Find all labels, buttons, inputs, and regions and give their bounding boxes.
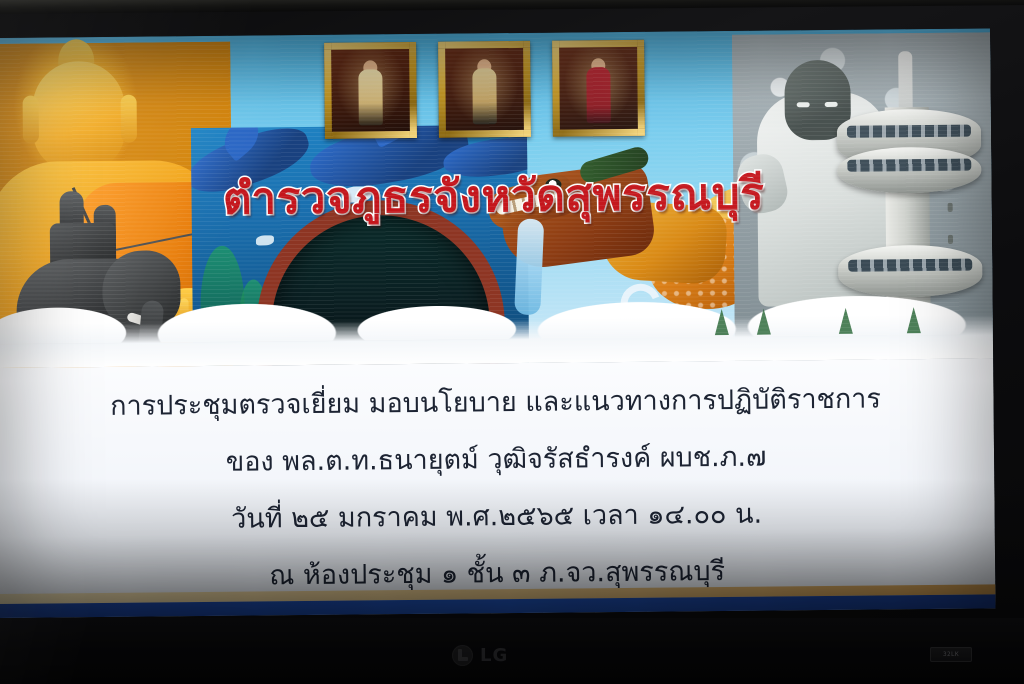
tv-chassis: ตำรวจภูธรจังหวัดสุพรรณบุรี การประชุมตรวจ… xyxy=(0,0,1024,684)
slide-body-line-2: ของ พล.ต.ท.ธนายุตม์ วุฒิจรัสธำรงค์ ผบช.ภ… xyxy=(0,441,994,478)
royal-portrait-center xyxy=(438,41,531,138)
model-badge-text: 32LK xyxy=(943,651,959,658)
tower-deck-lower xyxy=(838,245,982,298)
buddha-ear-left xyxy=(23,96,39,144)
lg-mark-icon xyxy=(452,645,473,666)
royal-portrait-left xyxy=(324,42,417,139)
royal-portrait-right xyxy=(552,40,645,137)
lg-logo: LG xyxy=(452,645,508,666)
royal-portraits-row xyxy=(324,40,645,143)
slide-text-panel: การประชุมตรวจเยี่ยม มอบนโยบาย และแนวทางก… xyxy=(0,358,996,618)
slide-photo-collage: ตำรวจภูธรจังหวัดสุพรรณบุรี xyxy=(0,28,993,368)
slide-body-line-3: วันที่ ๒๕ มกราคม พ.ศ.๒๕๖๕ เวลา ๑๔.๐๐ น. xyxy=(0,498,995,535)
presentation-slide: ตำรวจภูธรจังหวัดสุพรรณบุรี การประชุมตรวจ… xyxy=(0,28,996,618)
fish xyxy=(256,235,274,245)
slide-body-line-1: การประชุมตรวจเยี่ยม มอบนโยบาย และแนวทางก… xyxy=(0,384,994,421)
bottom-bezel: LG 32LK xyxy=(0,618,1024,684)
lg-wordmark: LG xyxy=(480,645,508,666)
model-badge: 32LK xyxy=(930,647,972,662)
buddha-ear-right xyxy=(121,95,137,143)
buddha-head xyxy=(32,61,125,172)
tv-screen[interactable]: ตำรวจภูธรจังหวัดสุพรรณบุรี การประชุมตรวจ… xyxy=(0,28,996,618)
top-bezel xyxy=(0,0,1024,14)
